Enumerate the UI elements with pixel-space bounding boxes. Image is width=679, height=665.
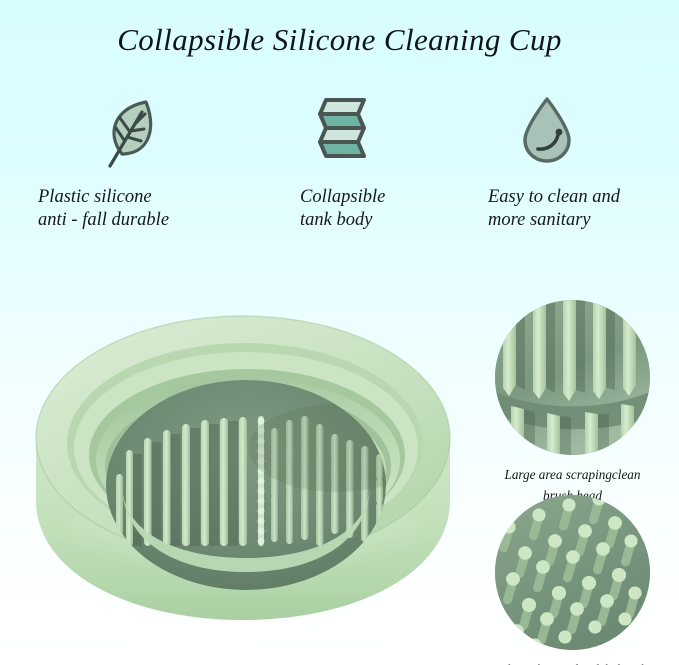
detail-caption: Clean the inside of thebrush head in a s… xyxy=(485,659,660,665)
detail-caption-line1: Clean the inside of thebrush xyxy=(485,659,660,665)
feature-list: Plastic silicone anti - fall durable Col… xyxy=(0,92,679,242)
feature-label-line2: more sanitary xyxy=(488,209,675,232)
accordion-collapse-icon xyxy=(268,92,483,170)
leaf-icon xyxy=(26,92,241,170)
feature-item-plastic-silicone: Plastic silicone anti - fall durable xyxy=(26,92,241,232)
feature-label: Easy to clean and more sanitary xyxy=(460,186,675,232)
detail-caption-line1: Large area scrapingclean xyxy=(485,464,660,485)
feature-label: Collapsible tank body xyxy=(268,186,483,232)
product-image xyxy=(18,288,468,628)
water-drop-icon xyxy=(460,92,675,170)
feature-label: Plastic silicone anti - fall durable xyxy=(26,186,241,232)
feature-item-easy-to-clean: Easy to clean and more sanitary xyxy=(460,92,675,232)
fin-blades-closeup xyxy=(495,300,650,455)
bristle-nubs-closeup xyxy=(495,495,650,650)
detail-callout-small-area-brush: Clean the inside of thebrush head in a s… xyxy=(485,495,660,665)
feature-label-line2: tank body xyxy=(300,209,483,232)
feature-label-line2: anti - fall durable xyxy=(38,209,241,232)
feature-label-line1: Easy to clean and xyxy=(488,186,675,209)
feature-label-line1: Plastic silicone xyxy=(38,186,241,209)
detail-callout-scraping-brush: Large area scrapingclean brush head xyxy=(485,300,660,506)
feature-item-collapsible: Collapsible tank body xyxy=(268,92,483,232)
product-infographic: Collapsible Silicone Cleaning Cup Plasti… xyxy=(0,0,679,665)
page-title: Collapsible Silicone Cleaning Cup xyxy=(0,22,679,58)
feature-label-line1: Collapsible xyxy=(300,186,483,209)
